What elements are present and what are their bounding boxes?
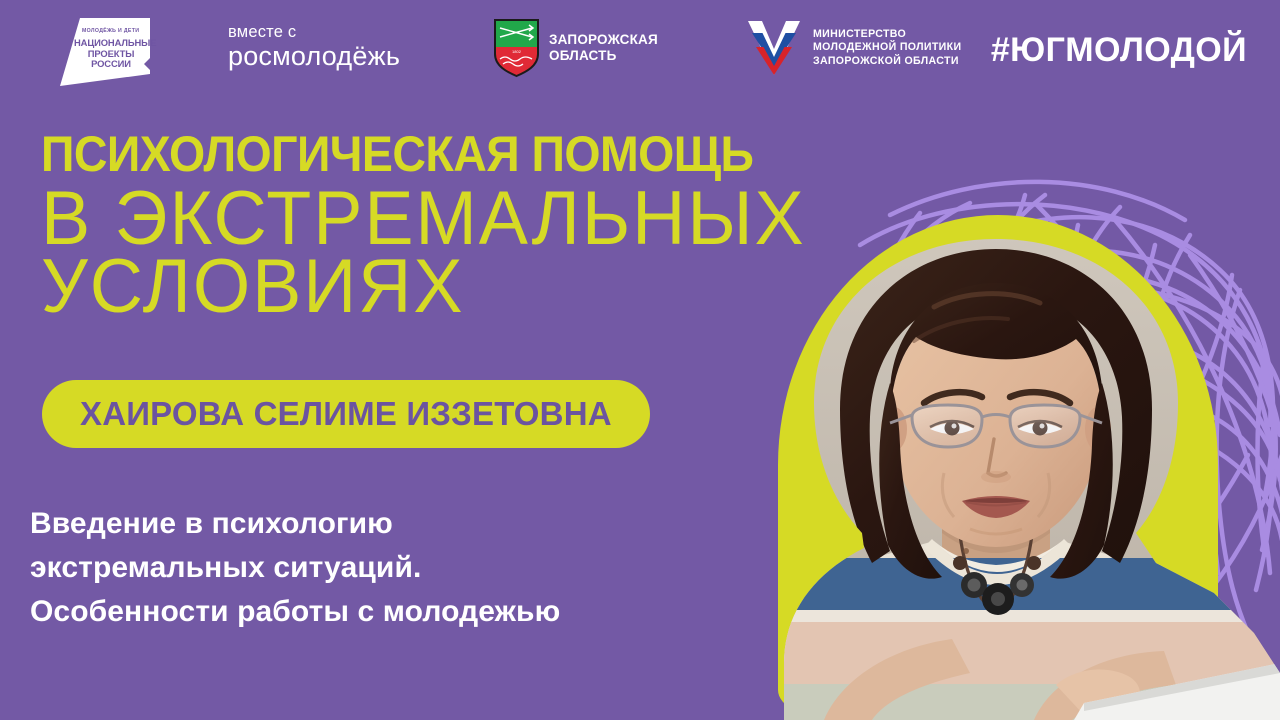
subtitle-line-1: Введение в психологию xyxy=(30,502,760,546)
logo-rosmolodezh: вместе с росмолодёжь xyxy=(228,23,400,71)
speaker-name-text: ХАИРОВА СЕЛИМЕ ИЗЗЕТОВНА xyxy=(80,395,612,433)
slide-subtitle: Введение в психологию экстремальных ситу… xyxy=(30,502,760,634)
subtitle-line-3: Особенности работы с молодежью xyxy=(30,590,760,634)
logo-rm-line1: вместе с xyxy=(228,23,400,42)
speaker-photo xyxy=(784,233,1280,720)
headline-line-1: ПСИХОЛОГИЧЕСКАЯ ПОМОЩЬ xyxy=(41,126,841,182)
logo-min-line1: МИНИСТЕРСТВО xyxy=(813,28,961,41)
speaker-name-badge: ХАИРОВА СЕЛИМЕ ИЗЗЕТОВНА xyxy=(42,380,650,448)
speaker-portrait xyxy=(770,215,1280,720)
tricolor-chevron-icon xyxy=(746,19,802,77)
partner-logo-bar: МОЛОДЁЖЬ И ДЕТИ НАЦИОНАЛЬНЫЕ ПРОЕКТЫ РОС… xyxy=(0,0,1280,96)
logo-national-projects: МОЛОДЁЖЬ И ДЕТИ НАЦИОНАЛЬНЫЕ ПРОЕКТЫ РОС… xyxy=(36,12,154,90)
logo-zp-line2: ОБЛАСТЬ xyxy=(549,48,658,64)
logo-ministry-label: МИНИСТЕРСТВО МОЛОДЕЖНОЙ ПОЛИТИКИ ЗАПОРОЖ… xyxy=(813,28,961,68)
logo-min-line3: ЗАПОРОЖСКОЙ ОБЛАСТИ xyxy=(813,55,961,68)
logo-ministry: МИНИСТЕРСТВО МОЛОДЕЖНОЙ ПОЛИТИКИ ЗАПОРОЖ… xyxy=(746,19,961,77)
zaporozhye-coat-of-arms-icon: 1802 xyxy=(493,18,540,78)
presentation-slide: МОЛОДЁЖЬ И ДЕТИ НАЦИОНАЛЬНЫЕ ПРОЕКТЫ РОС… xyxy=(0,0,1280,720)
logo-np-title: НАЦИОНАЛЬНЫЕ ПРОЕКТЫ РОССИИ xyxy=(74,38,148,70)
logo-zp-label: ЗАПОРОЖСКАЯ ОБЛАСТЬ xyxy=(549,32,658,64)
svg-text:1802: 1802 xyxy=(512,49,522,54)
logo-np-tagline: МОЛОДЁЖЬ И ДЕТИ xyxy=(82,28,139,34)
headline-line-3: УСЛОВИЯХ xyxy=(41,248,875,326)
logo-rm-line2: росмолодёжь xyxy=(228,41,400,71)
subtitle-line-2: экстремальных ситуаций. xyxy=(30,546,760,590)
logo-min-line2: МОЛОДЕЖНОЙ ПОЛИТИКИ xyxy=(813,41,961,54)
logo-zaporozhye-oblast: 1802 ЗАПОРОЖСКАЯ ОБЛАСТЬ xyxy=(493,18,658,78)
logo-zp-line1: ЗАПОРОЖСКАЯ xyxy=(549,32,658,48)
hashtag-yugmolodoy: #ЮГМОЛОДОЙ xyxy=(991,28,1247,72)
